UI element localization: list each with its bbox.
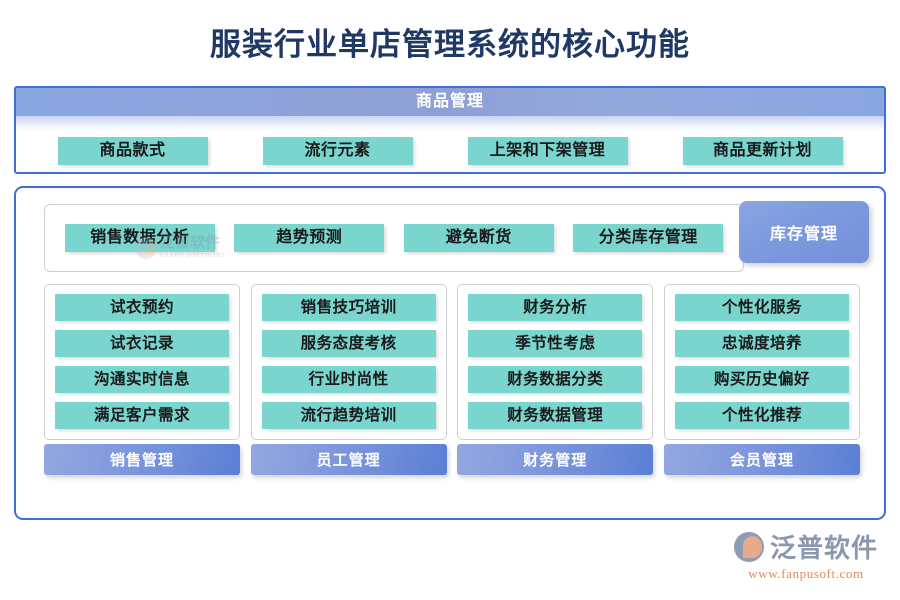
function-columns: 试衣预约 试衣记录 沟通实时信息 满足客户需求 销售管理 销售技巧培训 服务态度…	[44, 284, 860, 475]
column-0-item-2[interactable]: 沟通实时信息	[55, 366, 229, 393]
column-1-item-2[interactable]: 行业时尚性	[262, 366, 436, 393]
fanpu-logo-icon	[734, 532, 764, 562]
header-gradient-fade	[16, 116, 884, 130]
main-panel: 销售数据分析 趋势预测 避免断货 分类库存管理 库存管理 试衣预约 试衣记录 沟…	[14, 186, 886, 520]
column-card: 财务分析 季节性考虑 财务数据分类 财务数据管理	[457, 284, 653, 440]
product-management-header: 商品管理	[16, 88, 884, 116]
page-title: 服装行业单店管理系统的核心功能	[0, 0, 900, 62]
product-item-2[interactable]: 上架和下架管理	[468, 137, 628, 165]
column-3-item-3[interactable]: 个性化推荐	[675, 402, 849, 429]
column-1-footer[interactable]: 员工管理	[251, 444, 447, 475]
column-card: 试衣预约 试衣记录 沟通实时信息 满足客户需求	[44, 284, 240, 440]
inventory-item-1[interactable]: 趋势预测	[234, 224, 384, 252]
column-3-footer[interactable]: 会员管理	[664, 444, 860, 475]
column-3-item-0[interactable]: 个性化服务	[675, 294, 849, 321]
column-0-footer[interactable]: 销售管理	[44, 444, 240, 475]
brand-name: 泛普软件	[770, 528, 878, 565]
column-staff-management: 销售技巧培训 服务态度考核 行业时尚性 流行趋势培训 员工管理	[251, 284, 447, 475]
inventory-item-0[interactable]: 销售数据分析	[65, 224, 215, 252]
product-management-panel: 商品管理 商品款式 流行元素 上架和下架管理 商品更新计划	[14, 86, 886, 174]
column-1-item-1[interactable]: 服务态度考核	[262, 330, 436, 357]
inventory-items-strip: 销售数据分析 趋势预测 避免断货 分类库存管理	[44, 204, 744, 272]
column-1-item-0[interactable]: 销售技巧培训	[262, 294, 436, 321]
column-card: 个性化服务 忠诚度培养 购买历史偏好 个性化推荐	[664, 284, 860, 440]
column-3-item-1[interactable]: 忠诚度培养	[675, 330, 849, 357]
product-item-3[interactable]: 商品更新计划	[683, 137, 843, 165]
inventory-item-3[interactable]: 分类库存管理	[573, 224, 723, 252]
inventory-item-2[interactable]: 避免断货	[404, 224, 554, 252]
product-management-items: 商品款式 流行元素 上架和下架管理 商品更新计划	[16, 130, 884, 172]
column-sales-management: 试衣预约 试衣记录 沟通实时信息 满足客户需求 销售管理	[44, 284, 240, 475]
brand-url: www.fanpusoft.com	[748, 566, 864, 582]
column-3-item-2[interactable]: 购买历史偏好	[675, 366, 849, 393]
column-2-item-3[interactable]: 财务数据管理	[468, 402, 642, 429]
brand-logo: 泛普软件 www.fanpusoft.com	[734, 528, 878, 582]
brand-logo-row: 泛普软件	[734, 528, 878, 565]
product-item-1[interactable]: 流行元素	[263, 137, 413, 165]
inventory-management-tab[interactable]: 库存管理	[739, 201, 869, 263]
column-0-item-0[interactable]: 试衣预约	[55, 294, 229, 321]
column-2-item-2[interactable]: 财务数据分类	[468, 366, 642, 393]
column-member-management: 个性化服务 忠诚度培养 购买历史偏好 个性化推荐 会员管理	[664, 284, 860, 475]
column-2-footer[interactable]: 财务管理	[457, 444, 653, 475]
column-finance-management: 财务分析 季节性考虑 财务数据分类 财务数据管理 财务管理	[457, 284, 653, 475]
product-item-0[interactable]: 商品款式	[58, 137, 208, 165]
column-0-item-3[interactable]: 满足客户需求	[55, 402, 229, 429]
column-0-item-1[interactable]: 试衣记录	[55, 330, 229, 357]
column-2-item-1[interactable]: 季节性考虑	[468, 330, 642, 357]
column-card: 销售技巧培训 服务态度考核 行业时尚性 流行趋势培训	[251, 284, 447, 440]
column-1-item-3[interactable]: 流行趋势培训	[262, 402, 436, 429]
column-2-item-0[interactable]: 财务分析	[468, 294, 642, 321]
